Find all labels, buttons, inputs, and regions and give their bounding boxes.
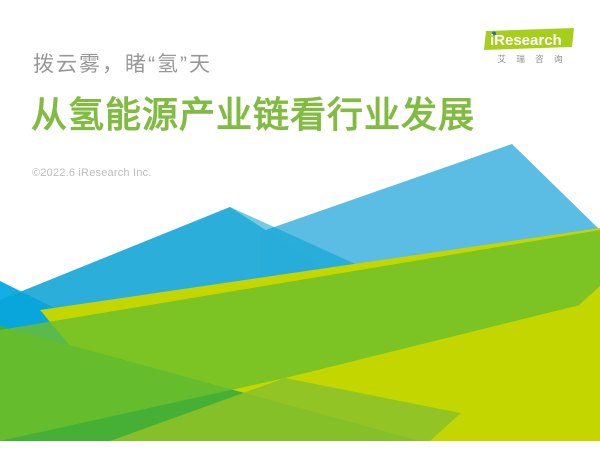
- cover-subtitle: 拨云雾，睹“氢”天: [33, 48, 212, 78]
- logo-wordmark-badge: iResearch: [484, 28, 576, 50]
- page-title: 从氢能源产业链看行业发展: [31, 95, 475, 135]
- cover-content-layer: iResearch 艾 瑞 咨 询 拨云雾，睹“氢”天 从氢能源产业链看行业发展…: [0, 0, 600, 450]
- logo-chinese-name: 艾 瑞 咨 询: [484, 53, 576, 65]
- logo-badge-shape: iResearch: [484, 28, 576, 50]
- presentation-cover-slide: iResearch 艾 瑞 咨 询 拨云雾，睹“氢”天 从氢能源产业链看行业发展…: [0, 0, 600, 450]
- copyright-notice: ©2022.6 iResearch Inc.: [32, 167, 152, 179]
- logo-wordmark-text: iResearch: [490, 32, 562, 49]
- iresearch-logo: iResearch 艾 瑞 咨 询: [484, 28, 576, 70]
